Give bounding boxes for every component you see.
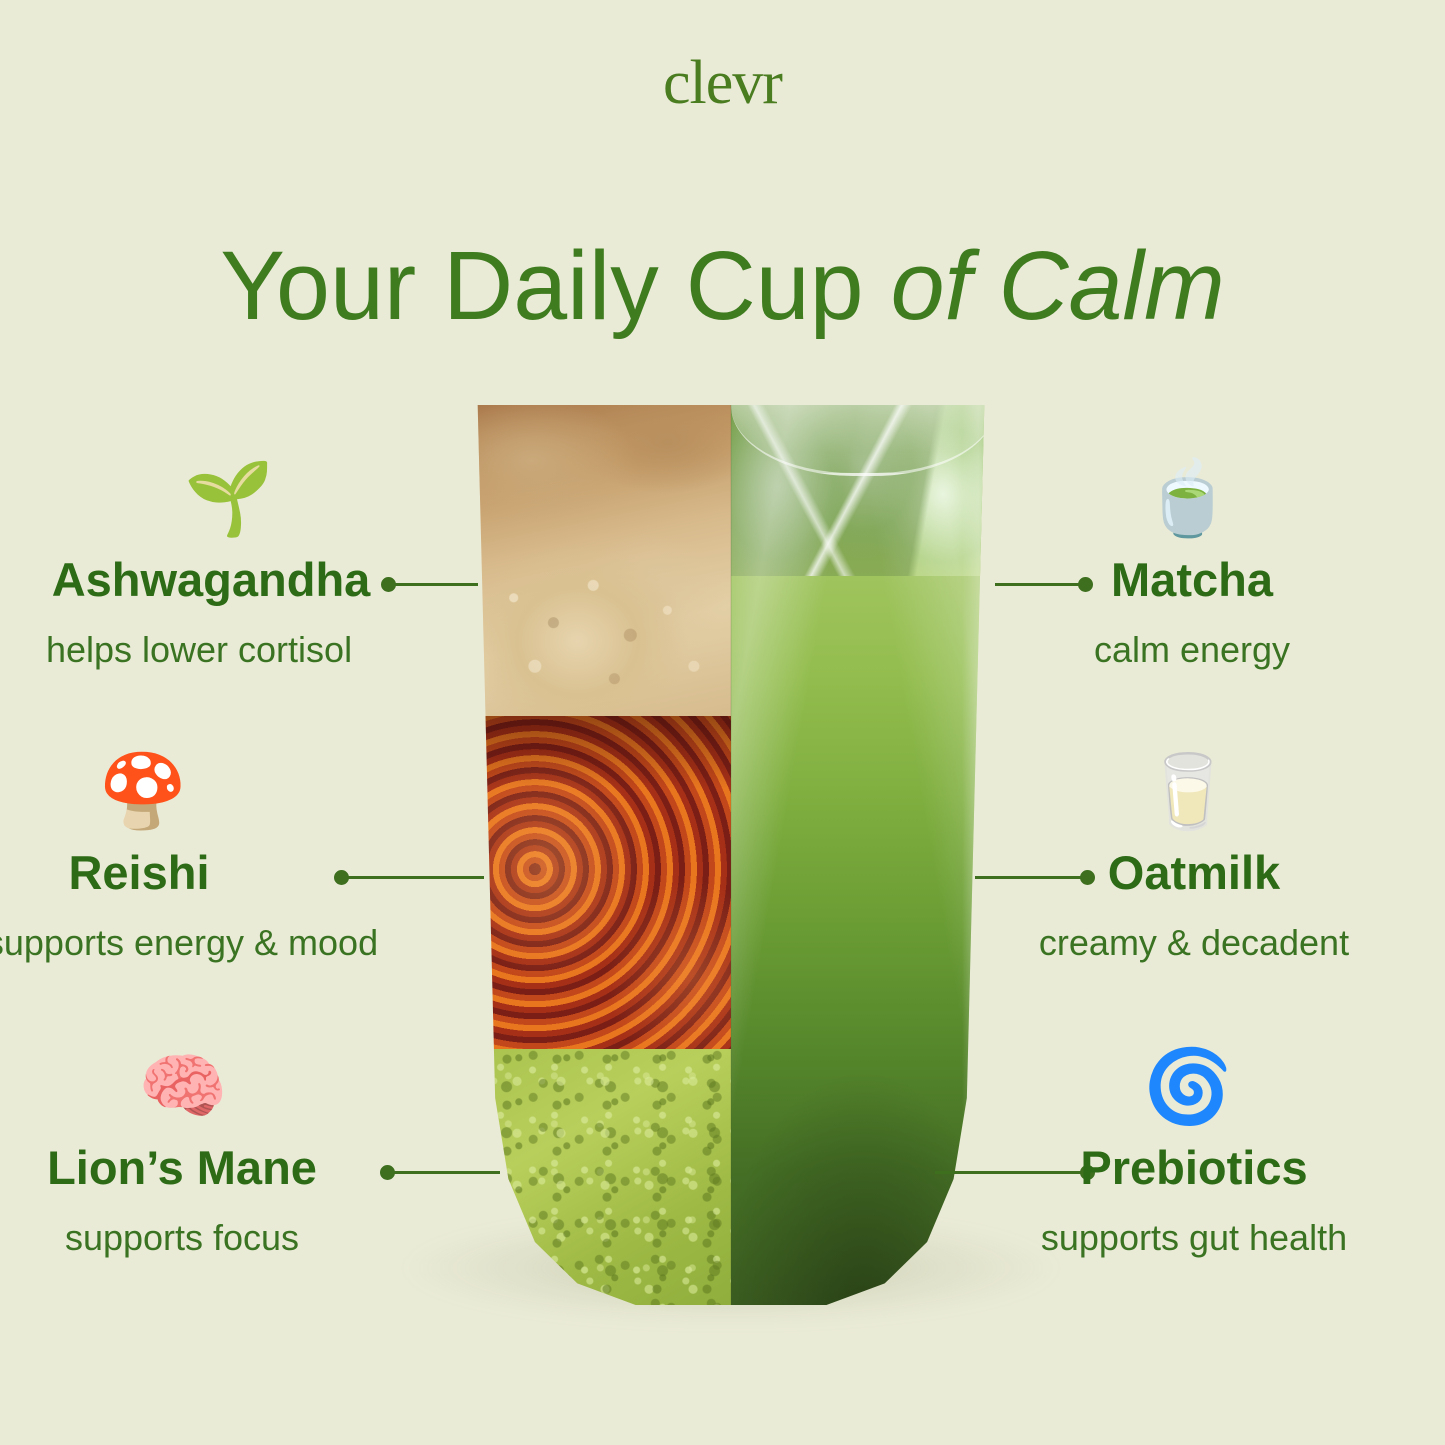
brand-logo: clevr (0, 52, 1445, 114)
ingredient-callout-matcha: 🍵 Matcha calm energy (975, 455, 1445, 670)
ingredient-callout-prebiotics: 🌀 Prebiotics supports gut health (975, 1043, 1445, 1258)
brain-icon: 🧠 (0, 1043, 418, 1129)
ingredient-name-label: Matcha (957, 555, 1427, 604)
page-title: Your Daily Cup of Calm (0, 230, 1445, 342)
cup-ingredients-half (466, 405, 731, 1305)
ingredient-band-reishi (466, 716, 731, 1049)
ingredient-benefit-text: helps lower cortisol (0, 630, 434, 670)
seedling-icon: 🌱 (0, 455, 464, 541)
glass-of-milk-icon: 🥛 (953, 748, 1423, 834)
reishi-shading (466, 716, 731, 1049)
ingredient-name-label: Reishi (0, 848, 374, 897)
cup-body (466, 405, 996, 1305)
ingredient-band-ashwagandha (466, 405, 731, 716)
mushroom-icon: 🍄 (0, 748, 378, 834)
ingredient-benefit-text: supports energy & mood (0, 923, 417, 963)
ingredient-callout-ashwagandha: 🌱 Ashwagandha helps lower cortisol (0, 455, 470, 670)
ashwagandha-powder-grain (466, 405, 731, 716)
cup-split-seam (730, 405, 732, 1305)
ingredient-callout-lions-mane: 🧠 Lion’s Mane supports focus (0, 1043, 470, 1258)
ingredient-name-label: Ashwagandha (0, 555, 446, 604)
product-cup-illustration (466, 405, 996, 1305)
ingredient-name-label: Lion’s Mane (0, 1143, 417, 1192)
page-title-emphasis: of Calm (891, 231, 1225, 340)
ingredient-benefit-text: supports focus (0, 1218, 417, 1258)
ingredient-name-label: Prebiotics (959, 1143, 1429, 1192)
ingredient-benefit-text: creamy & decadent (959, 923, 1429, 963)
ingredient-name-label: Oatmilk (959, 848, 1429, 897)
ingredient-callout-oatmilk: 🥛 Oatmilk creamy & decadent (975, 748, 1445, 963)
page-title-main: Your Daily Cup (220, 231, 890, 340)
ingredient-benefit-text: calm energy (957, 630, 1427, 670)
ingredient-benefit-text: supports gut health (959, 1218, 1429, 1258)
matcha-bowl-icon: 🍵 (953, 455, 1423, 541)
cyclone-icon: 🌀 (953, 1043, 1423, 1129)
ingredient-callout-reishi: 🍄 Reishi supports energy & mood (0, 748, 470, 963)
